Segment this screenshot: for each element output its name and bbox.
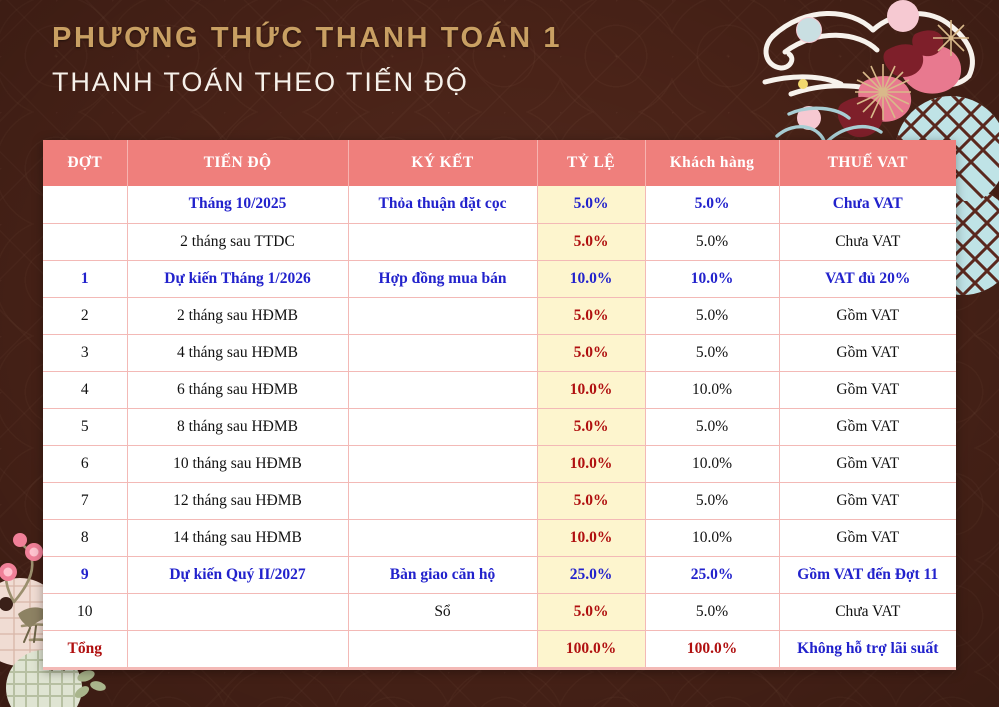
cell-khach-hang: 5.0%: [645, 593, 779, 630]
cell-tien-do: 4 tháng sau HĐMB: [127, 334, 348, 371]
cell-thue-vat: Gồm VAT: [779, 297, 956, 334]
cell-khach-hang: 5.0%: [645, 482, 779, 519]
cell-ty-le: 25.0%: [537, 556, 645, 593]
column-header-thue-vat: THUẾ VAT: [779, 140, 956, 186]
cell-ty-le: 5.0%: [537, 334, 645, 371]
column-header-dot: ĐỢT: [43, 140, 127, 186]
cell-ky-ket: [348, 482, 537, 519]
cell-tien-do: Tháng 10/2025: [127, 186, 348, 223]
cell-dot: Tổng: [43, 630, 127, 667]
table-row: 34 tháng sau HĐMB5.0%5.0%Gồm VAT: [43, 334, 956, 371]
cell-tien-do: 14 tháng sau HĐMB: [127, 519, 348, 556]
table-row: 58 tháng sau HĐMB5.0%5.0%Gồm VAT: [43, 408, 956, 445]
cell-ty-le: 5.0%: [537, 593, 645, 630]
column-header-tien-do: TIẾN ĐỘ: [127, 140, 348, 186]
cell-ty-le: 10.0%: [537, 260, 645, 297]
table-row: 712 tháng sau HĐMB5.0%5.0%Gồm VAT: [43, 482, 956, 519]
cell-dot: 9: [43, 556, 127, 593]
page-subtitle: THANH TOÁN THEO TIẾN ĐỘ: [52, 67, 562, 98]
cell-tien-do: 10 tháng sau HĐMB: [127, 445, 348, 482]
cell-ky-ket: Hợp đồng mua bán: [348, 260, 537, 297]
cell-dot: 3: [43, 334, 127, 371]
cell-dot: 6: [43, 445, 127, 482]
table-row: 22 tháng sau HĐMB5.0%5.0%Gồm VAT: [43, 297, 956, 334]
payment-schedule-table: ĐỢT TIẾN ĐỘ KÝ KẾT TỶ LỆ Khách hàng THUẾ…: [43, 140, 956, 670]
cell-ky-ket: Sổ: [348, 593, 537, 630]
cell-dot: 7: [43, 482, 127, 519]
table-row: Tổng100.0%100.0%Không hỗ trợ lãi suất: [43, 630, 956, 667]
cell-dot: [43, 223, 127, 260]
cell-ky-ket: [348, 445, 537, 482]
cell-dot: 2: [43, 297, 127, 334]
column-header-ty-le: TỶ LỆ: [537, 140, 645, 186]
cell-khach-hang: 10.0%: [645, 260, 779, 297]
title-block: PHƯƠNG THỨC THANH TOÁN 1 THANH TOÁN THEO…: [52, 22, 562, 98]
cell-khach-hang: 10.0%: [645, 371, 779, 408]
table-header: ĐỢT TIẾN ĐỘ KÝ KẾT TỶ LỆ Khách hàng THUẾ…: [43, 140, 956, 186]
cell-thue-vat: Chưa VAT: [779, 186, 956, 223]
cell-tien-do: [127, 593, 348, 630]
cell-thue-vat: Gồm VAT: [779, 408, 956, 445]
cell-ty-le: 5.0%: [537, 408, 645, 445]
column-header-khach-hang: Khách hàng: [645, 140, 779, 186]
cell-ky-ket: [348, 408, 537, 445]
cell-ky-ket: [348, 519, 537, 556]
cell-thue-vat: Gồm VAT đến Đợt 11: [779, 556, 956, 593]
column-header-ky-ket: KÝ KẾT: [348, 140, 537, 186]
cell-dot: [43, 186, 127, 223]
cell-ty-le: 10.0%: [537, 371, 645, 408]
cell-khach-hang: 5.0%: [645, 297, 779, 334]
cell-ty-le: 5.0%: [537, 482, 645, 519]
cell-thue-vat: Gồm VAT: [779, 445, 956, 482]
table-body: Tháng 10/2025Thỏa thuận đặt cọc5.0%5.0%C…: [43, 186, 956, 667]
cell-tien-do: 8 tháng sau HĐMB: [127, 408, 348, 445]
table-row: 9Dự kiến Quý II/2027Bàn giao căn hộ25.0%…: [43, 556, 956, 593]
cell-thue-vat: Gồm VAT: [779, 482, 956, 519]
cell-tien-do: Dự kiến Quý II/2027: [127, 556, 348, 593]
cell-dot: 10: [43, 593, 127, 630]
cell-khach-hang: 5.0%: [645, 334, 779, 371]
cell-thue-vat: Chưa VAT: [779, 593, 956, 630]
cell-khach-hang: 10.0%: [645, 445, 779, 482]
cell-tien-do: Dự kiến Tháng 1/2026: [127, 260, 348, 297]
cell-khach-hang: 100.0%: [645, 630, 779, 667]
cell-tien-do: 6 tháng sau HĐMB: [127, 371, 348, 408]
cell-khach-hang: 25.0%: [645, 556, 779, 593]
cell-thue-vat: VAT đủ 20%: [779, 260, 956, 297]
cell-khach-hang: 5.0%: [645, 186, 779, 223]
cell-ky-ket: [348, 371, 537, 408]
cell-thue-vat: Gồm VAT: [779, 519, 956, 556]
cell-tien-do: 2 tháng sau HĐMB: [127, 297, 348, 334]
cell-khach-hang: 5.0%: [645, 408, 779, 445]
table-row: 814 tháng sau HĐMB10.0%10.0%Gồm VAT: [43, 519, 956, 556]
cell-dot: 8: [43, 519, 127, 556]
cell-ty-le: 10.0%: [537, 519, 645, 556]
table-row: 10Sổ5.0%5.0%Chưa VAT: [43, 593, 956, 630]
cell-dot: 4: [43, 371, 127, 408]
table-row: 610 tháng sau HĐMB10.0%10.0%Gồm VAT: [43, 445, 956, 482]
cell-ky-ket: Thỏa thuận đặt cọc: [348, 186, 537, 223]
cell-thue-vat: Không hỗ trợ lãi suất: [779, 630, 956, 667]
cell-khach-hang: 10.0%: [645, 519, 779, 556]
cell-tien-do: [127, 630, 348, 667]
cell-ty-le: 100.0%: [537, 630, 645, 667]
cell-ty-le: 5.0%: [537, 186, 645, 223]
cell-ty-le: 10.0%: [537, 445, 645, 482]
cell-thue-vat: Chưa VAT: [779, 223, 956, 260]
cell-khach-hang: 5.0%: [645, 223, 779, 260]
page-title: PHƯƠNG THỨC THANH TOÁN 1: [52, 22, 562, 55]
cell-tien-do: 2 tháng sau TTDC: [127, 223, 348, 260]
cell-dot: 1: [43, 260, 127, 297]
cell-thue-vat: Gồm VAT: [779, 371, 956, 408]
cell-ky-ket: Bàn giao căn hộ: [348, 556, 537, 593]
table-row: 46 tháng sau HĐMB10.0%10.0%Gồm VAT: [43, 371, 956, 408]
cell-thue-vat: Gồm VAT: [779, 334, 956, 371]
cell-ty-le: 5.0%: [537, 223, 645, 260]
payment-table: ĐỢT TIẾN ĐỘ KÝ KẾT TỶ LỆ Khách hàng THUẾ…: [43, 140, 956, 667]
cell-ky-ket: [348, 297, 537, 334]
table-header-row: ĐỢT TIẾN ĐỘ KÝ KẾT TỶ LỆ Khách hàng THUẾ…: [43, 140, 956, 186]
cell-ky-ket: [348, 630, 537, 667]
cell-ky-ket: [348, 223, 537, 260]
table-row: 2 tháng sau TTDC5.0%5.0%Chưa VAT: [43, 223, 956, 260]
cell-ky-ket: [348, 334, 537, 371]
cell-dot: 5: [43, 408, 127, 445]
table-bottom-rule: [43, 667, 956, 670]
cell-tien-do: 12 tháng sau HĐMB: [127, 482, 348, 519]
table-row: 1Dự kiến Tháng 1/2026Hợp đồng mua bán10.…: [43, 260, 956, 297]
table-row: Tháng 10/2025Thỏa thuận đặt cọc5.0%5.0%C…: [43, 186, 956, 223]
cell-ty-le: 5.0%: [537, 297, 645, 334]
